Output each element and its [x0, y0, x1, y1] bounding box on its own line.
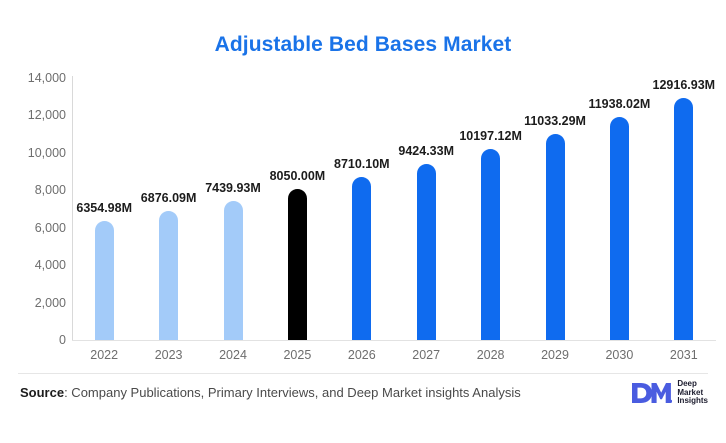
- footer-divider: [18, 373, 708, 374]
- bar-group[interactable]: 11938.02M: [610, 78, 629, 340]
- x-axis-tick-label: 2022: [90, 348, 118, 362]
- bar-value-label: 7439.93M: [205, 181, 261, 195]
- dm-monogram-icon: [630, 381, 672, 405]
- bar-2024[interactable]: [224, 201, 243, 340]
- bar-group[interactable]: 9424.33M: [417, 78, 436, 340]
- y-axis-tick-label: 0: [4, 333, 66, 347]
- x-axis-tick-label: 2023: [155, 348, 183, 362]
- y-axis-tick-label: 2,000: [4, 296, 66, 310]
- bar-value-label: 8050.00M: [270, 169, 326, 183]
- bar-value-label: 9424.33M: [398, 144, 454, 158]
- bar-2022[interactable]: [95, 221, 114, 340]
- y-axis-tick-label: 4,000: [4, 258, 66, 272]
- bar-value-label: 11033.29M: [524, 114, 586, 128]
- x-axis-tick-label: 2026: [348, 348, 376, 362]
- x-axis-tick-label: 2031: [670, 348, 698, 362]
- bar-2023[interactable]: [159, 211, 178, 340]
- logo-wordmark: Deep Market Insights: [677, 380, 708, 406]
- source-label: Source: [20, 385, 64, 400]
- bar-group[interactable]: 8710.10M: [352, 78, 371, 340]
- bar-value-label: 8710.10M: [334, 157, 390, 171]
- deep-market-insights-logo: Deep Market Insights: [630, 378, 708, 408]
- chart-title: Adjustable Bed Bases Market: [0, 33, 726, 57]
- bar-2027[interactable]: [417, 164, 436, 340]
- y-axis-tick-label: 10,000: [4, 146, 66, 160]
- y-axis-tick-label: 12,000: [4, 108, 66, 122]
- bar-group[interactable]: 7439.93M: [224, 78, 243, 340]
- bar-2030[interactable]: [610, 117, 629, 340]
- logo-line-3: Insights: [677, 397, 708, 406]
- bar-group[interactable]: 6876.09M: [159, 78, 178, 340]
- bar-group[interactable]: 11033.29M: [546, 78, 565, 340]
- bar-group[interactable]: 10197.12M: [481, 78, 500, 340]
- x-axis-line: [72, 340, 716, 341]
- x-axis-tick-label: 2029: [541, 348, 569, 362]
- x-axis-tick-label: 2024: [219, 348, 247, 362]
- chart-card: Adjustable Bed Bases Market 02,0004,0006…: [0, 0, 726, 443]
- source-note: Source: Company Publications, Primary In…: [20, 385, 521, 400]
- y-axis: 02,0004,0006,0008,00010,00012,00014,000: [0, 0, 66, 443]
- bar-value-label: 11938.02M: [588, 97, 650, 111]
- bar-value-label: 12916.93M: [653, 78, 716, 92]
- bar-2026[interactable]: [352, 177, 371, 340]
- x-axis-tick-label: 2027: [412, 348, 440, 362]
- y-axis-tick-label: 8,000: [4, 183, 66, 197]
- y-axis-tick-label: 14,000: [4, 71, 66, 85]
- bar-2031[interactable]: [674, 98, 693, 340]
- x-axis-tick-label: 2025: [283, 348, 311, 362]
- bar-2025[interactable]: [288, 189, 307, 340]
- bar-group[interactable]: 8050.00M: [288, 78, 307, 340]
- source-text: : Company Publications, Primary Intervie…: [64, 385, 521, 400]
- bar-value-label: 6354.98M: [76, 201, 132, 215]
- bar-value-label: 10197.12M: [459, 129, 522, 143]
- bar-2029[interactable]: [546, 134, 565, 340]
- x-axis-tick-label: 2030: [605, 348, 633, 362]
- y-axis-tick-label: 6,000: [4, 221, 66, 235]
- bar-2028[interactable]: [481, 149, 500, 340]
- bar-group[interactable]: 6354.98M: [95, 78, 114, 340]
- bar-value-label: 6876.09M: [141, 191, 197, 205]
- x-axis-tick-label: 2028: [477, 348, 505, 362]
- bar-group[interactable]: 12916.93M: [674, 78, 693, 340]
